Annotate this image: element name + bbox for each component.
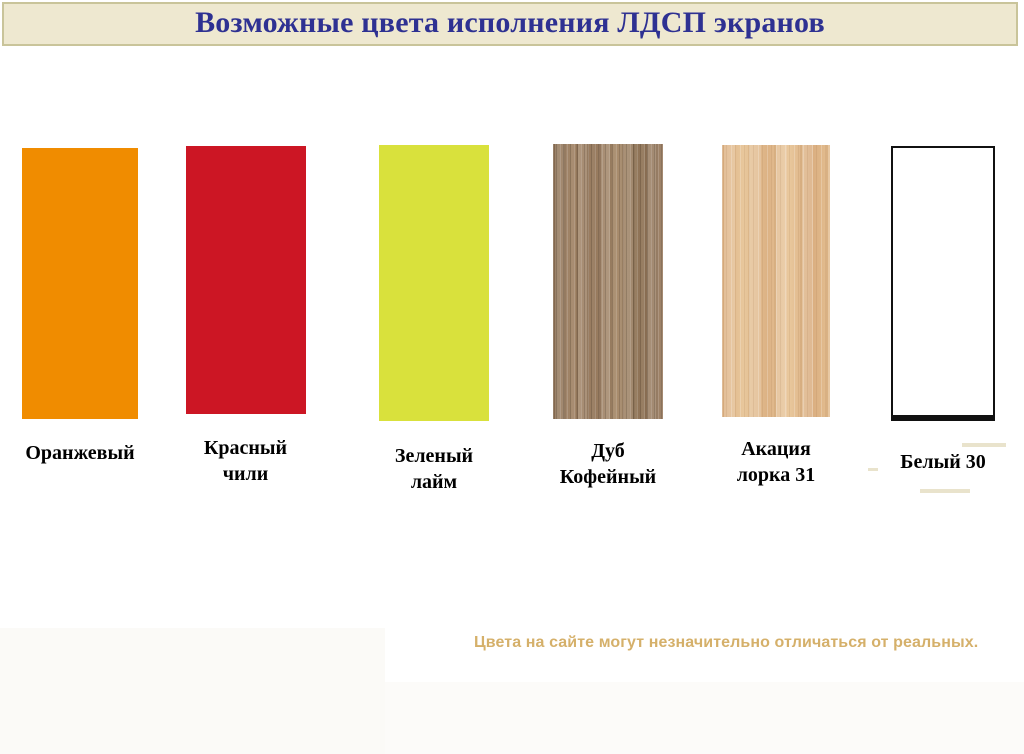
color-option-white-30[interactable]: Белый 30 — [862, 140, 1024, 475]
white-30-swatch[interactable] — [891, 146, 995, 421]
page-title: Возможные цвета исполнения ЛДСП экранов — [195, 8, 825, 40]
color-option-green-lime[interactable]: Зеленый лайм — [358, 140, 510, 496]
color-option-oak-coffee[interactable]: Дуб Кофейный — [532, 140, 684, 491]
swatch-label-oak-coffee: Дуб Кофейный — [532, 438, 684, 491]
swatch-label-white-30: Белый 30 — [862, 449, 1024, 475]
oak-coffee-swatch[interactable] — [553, 144, 663, 419]
page-canvas: Возможные цвета исполнения ЛДСП экранов … — [0, 0, 1024, 754]
swatch-label-green-lime: Зеленый лайм — [358, 443, 510, 496]
swatch-label-acacia-lorca-31: Акация лорка 31 — [700, 436, 852, 489]
color-accuracy-disclaimer: Цвета на сайте могут незначительно отлич… — [474, 634, 978, 652]
swatch-label-red-chili: Красный чили — [168, 435, 323, 488]
swatch-label-orange: Оранжевый — [0, 440, 160, 466]
green-lime-swatch[interactable] — [379, 145, 489, 421]
title-banner: Возможные цвета исполнения ЛДСП экранов — [2, 2, 1018, 46]
color-option-red-chili[interactable]: Красный чили — [168, 140, 323, 488]
artifact-mark — [962, 443, 1006, 447]
color-option-orange[interactable]: Оранжевый — [0, 140, 160, 466]
color-swatch-row: Оранжевый Красный чили Зеленый лайм Дуб … — [0, 140, 1024, 520]
color-option-acacia-lorca-31[interactable]: Акация лорка 31 — [700, 140, 852, 489]
acacia-lorca-31-swatch[interactable] — [722, 145, 830, 417]
orange-swatch[interactable] — [22, 148, 138, 419]
artifact-mark — [868, 468, 878, 471]
artifact-mark — [920, 489, 970, 493]
red-chili-swatch[interactable] — [186, 146, 306, 414]
background-panel-bottom-left — [0, 628, 385, 754]
